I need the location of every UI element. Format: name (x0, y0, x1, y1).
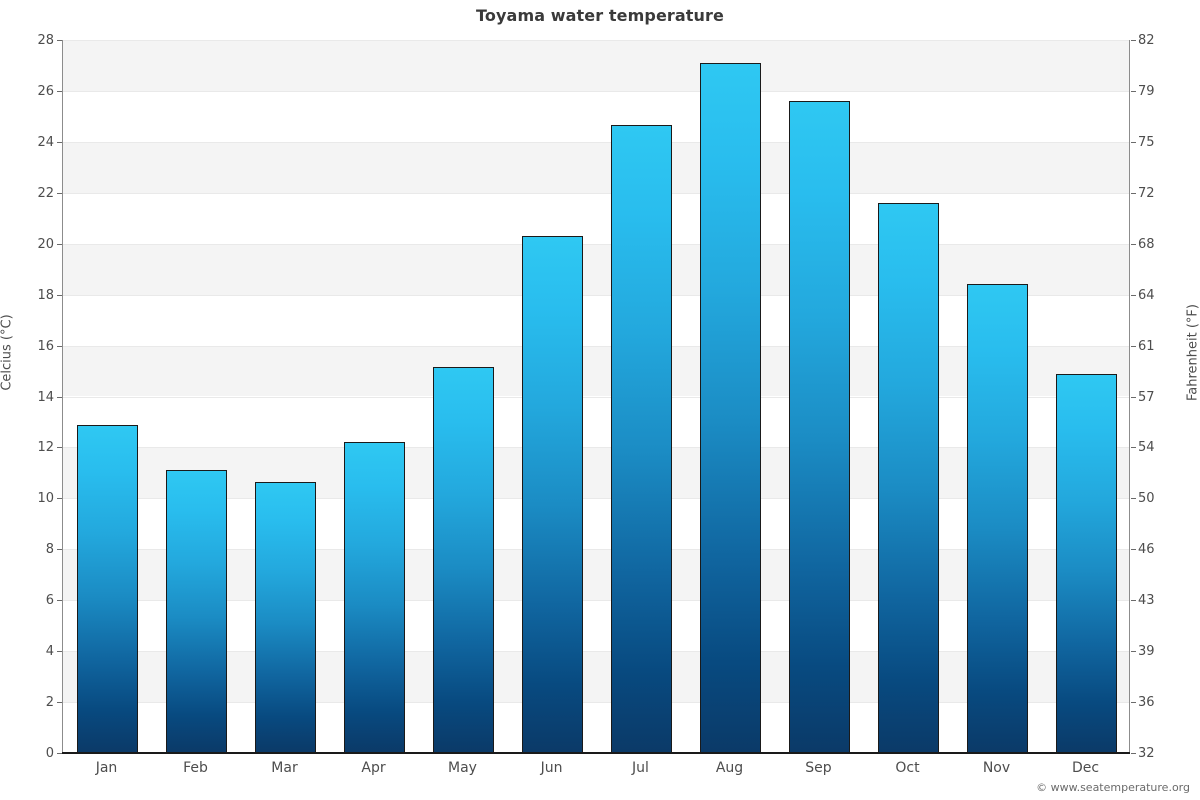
bar (967, 284, 1028, 753)
y-tick-label-fahrenheit: 46 (1138, 543, 1155, 556)
plot-area (62, 40, 1130, 753)
y-tick-label-fahrenheit: 32 (1138, 747, 1155, 760)
bar (1056, 374, 1117, 753)
y-tickmark-right (1131, 549, 1136, 550)
y-tickmark-right (1131, 447, 1136, 448)
y-tickmark-right (1131, 753, 1136, 754)
bar (789, 101, 850, 753)
y-axis-right-ticks: 323639434650545761646872757982 (1138, 40, 1190, 753)
y-tick-label-celsius: 4 (46, 645, 54, 658)
y-tick-label-fahrenheit: 72 (1138, 187, 1155, 200)
y-tickmark-right (1131, 702, 1136, 703)
y-tickmark-right (1131, 244, 1136, 245)
y-tickmark-left (57, 702, 62, 703)
x-tick-label: May (418, 761, 507, 775)
x-tick-label: Sep (774, 761, 863, 775)
y-tick-label-celsius: 22 (37, 187, 54, 200)
y-tick-label-celsius: 14 (37, 391, 54, 404)
y-tickmark-right (1131, 397, 1136, 398)
bar (77, 425, 138, 753)
x-tick-label: Jan (62, 761, 151, 775)
y-axis-left-title: Celcius (°C) (0, 243, 15, 463)
y-tick-label-celsius: 16 (37, 340, 54, 353)
y-tick-label-fahrenheit: 68 (1138, 238, 1155, 251)
x-tick-label: Nov (952, 761, 1041, 775)
y-tickmark-left (57, 295, 62, 296)
x-tick-label: Dec (1041, 761, 1130, 775)
y-tickmark-left (57, 549, 62, 550)
y-tickmark-left (57, 498, 62, 499)
x-tick-label: Oct (863, 761, 952, 775)
x-tick-label: Jun (507, 761, 596, 775)
bar (878, 203, 939, 753)
bar (433, 367, 494, 753)
y-tick-label-celsius: 12 (37, 441, 54, 454)
y-tick-label-celsius: 18 (37, 289, 54, 302)
y-tick-label-celsius: 28 (37, 34, 54, 47)
y-tickmark-left (57, 447, 62, 448)
y-tick-label-celsius: 10 (37, 492, 54, 505)
y-tickmark-left (57, 651, 62, 652)
x-tick-label: Jul (596, 761, 685, 775)
bar (700, 63, 761, 753)
y-tickmark-left (57, 753, 62, 754)
y-tick-label-celsius: 0 (46, 747, 54, 760)
y-tick-label-fahrenheit: 43 (1138, 594, 1155, 607)
y-tickmark-left (57, 397, 62, 398)
water-temperature-chart: Toyama water temperature 024681012141618… (0, 0, 1200, 800)
y-tickmark-right (1131, 40, 1136, 41)
y-tick-label-celsius: 6 (46, 594, 54, 607)
x-axis-tick-labels: JanFebMarAprMayJunJulAugSepOctNovDec (62, 761, 1130, 787)
y-tick-label-fahrenheit: 61 (1138, 340, 1155, 353)
y-tick-label-celsius: 20 (37, 238, 54, 251)
y-tickmark-left (57, 40, 62, 41)
x-tick-label: Apr (329, 761, 418, 775)
y-tickmark-left (57, 600, 62, 601)
y-tick-label-fahrenheit: 82 (1138, 34, 1155, 47)
y-tickmark-right (1131, 346, 1136, 347)
y-tickmark-right (1131, 142, 1136, 143)
y-tickmark-right (1131, 193, 1136, 194)
copyright-credit: © www.seatemperature.org (1036, 781, 1190, 794)
x-tick-label: Feb (151, 761, 240, 775)
y-tick-label-celsius: 24 (37, 136, 54, 149)
y-tickmark-left (57, 244, 62, 245)
y-tick-label-fahrenheit: 79 (1138, 85, 1155, 98)
y-tick-label-fahrenheit: 54 (1138, 441, 1155, 454)
y-axis-right-title: Fahrenheit (°F) (1186, 243, 1200, 463)
bar-series (63, 40, 1129, 753)
y-tick-label-celsius: 2 (46, 696, 54, 709)
x-tick-label: Mar (240, 761, 329, 775)
x-axis-line (62, 752, 1130, 754)
bar (522, 236, 583, 753)
y-tick-label-fahrenheit: 64 (1138, 289, 1155, 302)
y-tickmark-right (1131, 651, 1136, 652)
y-tickmark-right (1131, 295, 1136, 296)
bar (166, 470, 227, 753)
y-tick-label-celsius: 26 (37, 85, 54, 98)
y-tick-label-fahrenheit: 75 (1138, 136, 1155, 149)
y-tickmark-left (57, 346, 62, 347)
y-tickmark-left (57, 142, 62, 143)
x-tick-label: Aug (685, 761, 774, 775)
y-tickmark-right (1131, 600, 1136, 601)
y-tickmark-left (57, 91, 62, 92)
y-tickmark-left (57, 193, 62, 194)
bar (611, 125, 672, 753)
y-tick-label-fahrenheit: 39 (1138, 645, 1155, 658)
y-tick-label-fahrenheit: 50 (1138, 492, 1155, 505)
y-tickmark-right (1131, 498, 1136, 499)
bar (255, 482, 316, 753)
y-tickmark-right (1131, 91, 1136, 92)
page-title: Toyama water temperature (0, 6, 1200, 25)
bar (344, 442, 405, 753)
y-tick-label-fahrenheit: 36 (1138, 696, 1155, 709)
y-tick-label-fahrenheit: 57 (1138, 391, 1155, 404)
y-tick-label-celsius: 8 (46, 543, 54, 556)
